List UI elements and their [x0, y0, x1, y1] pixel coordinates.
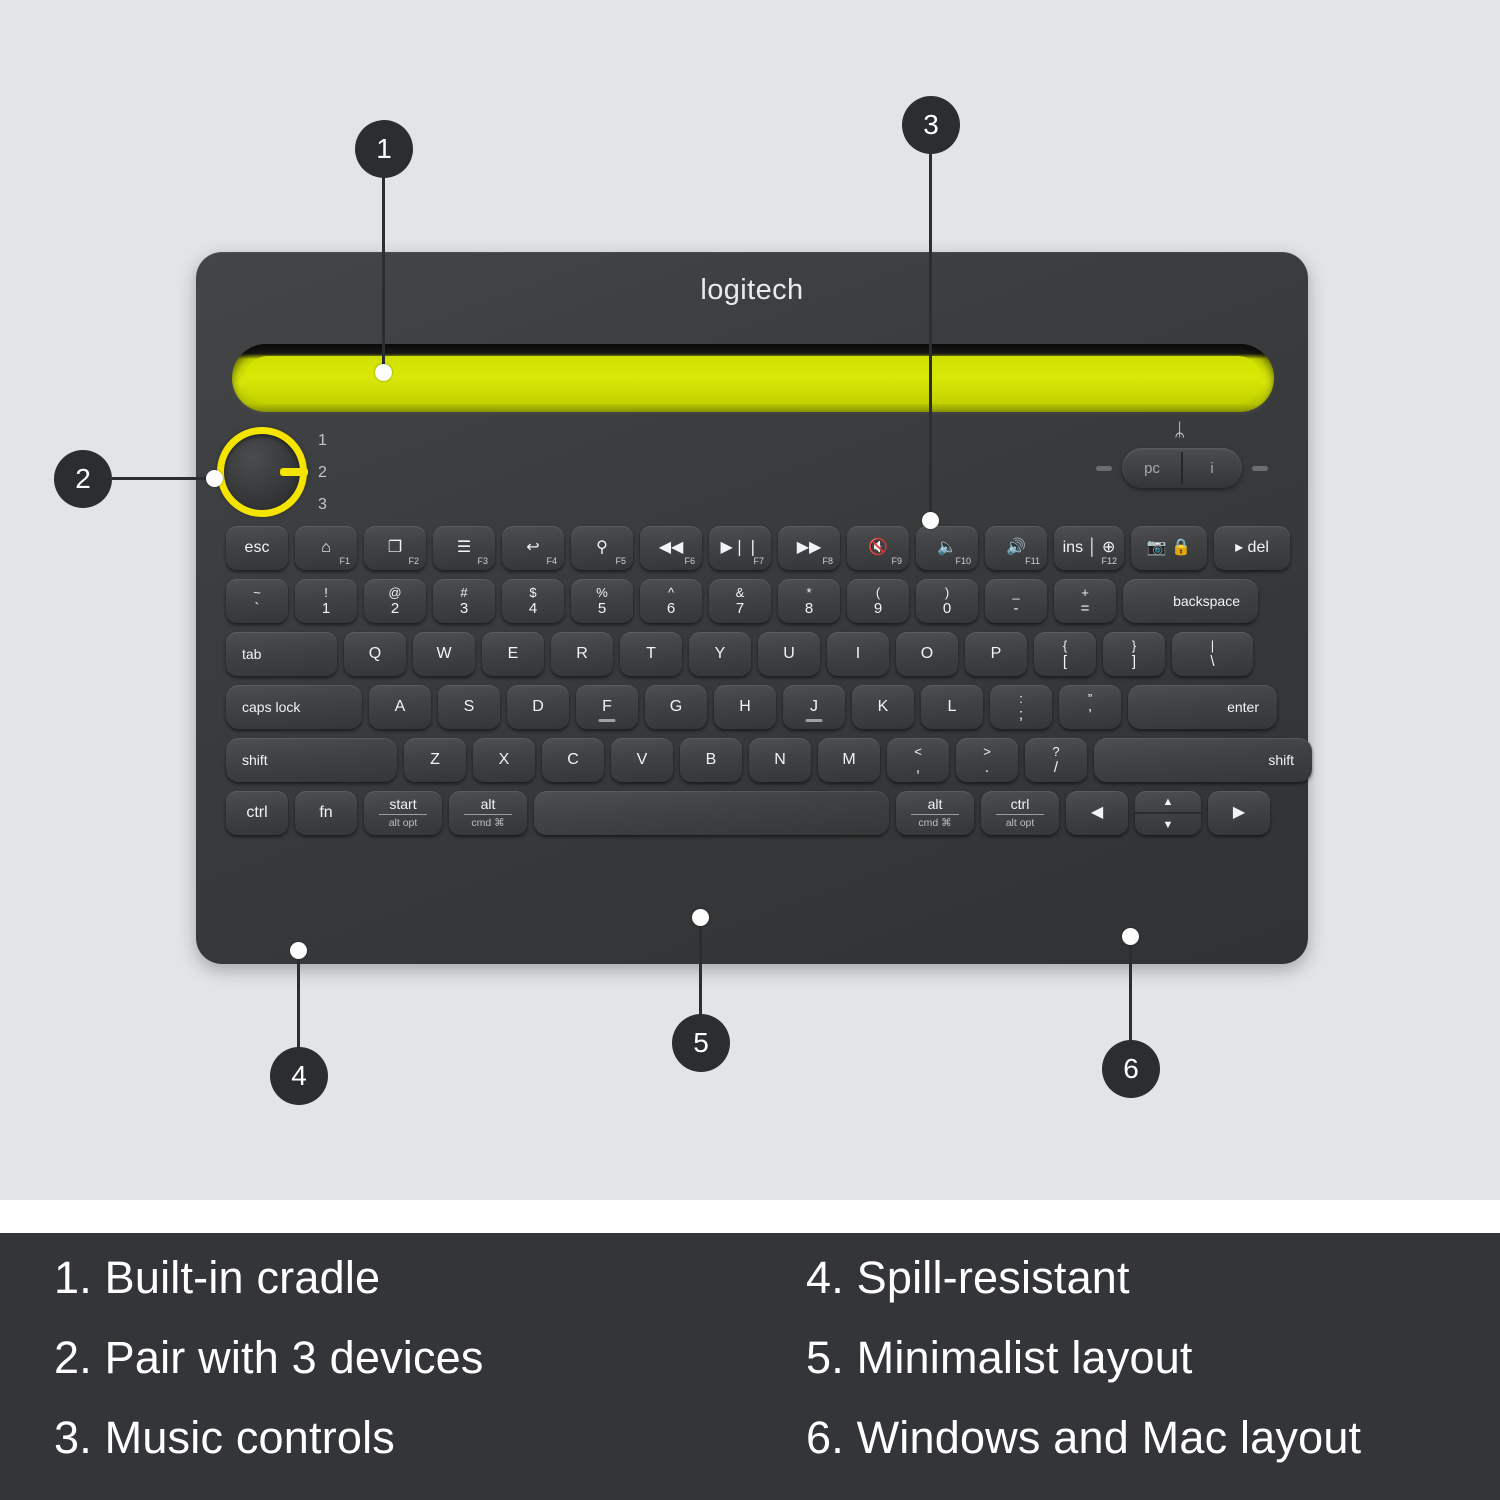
key-legend-shifted: }	[1132, 639, 1136, 652]
arrow-right-icon: ▶	[1233, 805, 1245, 821]
windows-switch-icon-icon: ❐	[388, 540, 402, 556]
key-label: D	[532, 699, 544, 715]
key-legend-rule	[911, 814, 959, 815]
key-label: R	[576, 646, 588, 662]
fast-forward-icon-icon: ▶▶	[797, 540, 822, 556]
key-volume-down[interactable]: 🔈F10	[916, 526, 978, 570]
key-y[interactable]: Y	[689, 632, 751, 676]
callout-dot-6	[1122, 928, 1139, 945]
key-legend-base: -	[1014, 601, 1019, 616]
key-legend-base: [	[1063, 654, 1067, 669]
key-legend-base: 7	[736, 601, 744, 616]
key-arrow-right[interactable]: ▶	[1208, 791, 1270, 835]
caption-item: 2. Pair with 3 devices	[54, 1335, 484, 1380]
search-icon-icon: ⚲	[596, 540, 608, 556]
key-k[interactable]: K	[852, 685, 914, 729]
key-shift-right[interactable]: shift	[1094, 738, 1312, 782]
key-fn-label: F7	[753, 556, 764, 566]
key-label: H	[739, 699, 751, 715]
key-screenshot[interactable]: 📷 🔒	[1131, 526, 1207, 570]
key-volume-up[interactable]: 🔊F11	[985, 526, 1047, 570]
key-legend-rule	[379, 814, 427, 815]
key-label: caps lock	[242, 700, 300, 714]
key-legend-primary: ctrl	[1011, 797, 1030, 811]
dial-label-3: 3	[318, 496, 327, 514]
key-legend-shifted: ^	[668, 586, 674, 599]
key-u[interactable]: U	[758, 632, 820, 676]
key-label: I	[856, 646, 860, 662]
key-insert[interactable]: ins │ ⊕F12	[1054, 526, 1124, 570]
key-search[interactable]: ⚲F5	[571, 526, 633, 570]
callout-dot-5	[692, 909, 709, 926]
key-legend-base: 1	[322, 601, 330, 616]
callout-dot-2	[206, 470, 223, 487]
key-label: ctrl	[246, 805, 267, 821]
key-label: V	[637, 752, 648, 768]
key-quote[interactable]: ”’	[1059, 685, 1121, 729]
callout-badge-4[interactable]: 4	[270, 1047, 328, 1105]
bluetooth-icon: ᛦ	[1174, 420, 1185, 442]
homing-bar	[599, 719, 616, 722]
key-4[interactable]: $4	[502, 579, 564, 623]
key-legend-rule	[996, 814, 1044, 815]
key-tilde[interactable]: ~`	[226, 579, 288, 623]
key-0[interactable]: )0	[916, 579, 978, 623]
key-fast-forward[interactable]: ▶▶F8	[778, 526, 840, 570]
key-row-bottom: ctrlfnstartalt optaltcmd ⌘altcmd ⌘ctrlal…	[226, 791, 1277, 835]
key-legend-base: ,	[916, 760, 920, 775]
key-legend-shifted: (	[876, 586, 880, 599]
key-legend-base: 8	[805, 601, 813, 616]
key-label: G	[670, 699, 682, 715]
key-label: fn	[319, 805, 332, 821]
key-label: esc	[245, 540, 270, 556]
key-legend-shifted: |	[1211, 639, 1214, 652]
key-label: W	[436, 646, 451, 662]
key-arrow-left[interactable]: ◀	[1066, 791, 1128, 835]
key-6[interactable]: ^6	[640, 579, 702, 623]
key-fn-label: F11	[1025, 556, 1040, 566]
key-7[interactable]: &7	[709, 579, 771, 623]
key-x[interactable]: X	[473, 738, 535, 782]
key-equals[interactable]: +=	[1054, 579, 1116, 623]
key-fn-label: F12	[1101, 556, 1117, 566]
key-w[interactable]: W	[413, 632, 475, 676]
key-caps-lock[interactable]: caps lock	[226, 685, 362, 729]
key-j[interactable]: J	[783, 685, 845, 729]
key-legend-shifted: ?	[1052, 745, 1059, 758]
key-label: Y	[715, 646, 726, 662]
back-arrow-icon-icon: ↩	[526, 540, 539, 556]
key-legend-base: 4	[529, 601, 537, 616]
key-legend-rule	[464, 814, 512, 815]
key-menu[interactable]: ☰F3	[433, 526, 495, 570]
key-label: A	[395, 699, 406, 715]
key-app-switch[interactable]: ❐F2	[364, 526, 426, 570]
callout-dot-3	[922, 512, 939, 529]
callout-badge-2[interactable]: 2	[54, 450, 112, 508]
key-mute[interactable]: 🔇F9	[847, 526, 909, 570]
key-shift-left[interactable]: shift	[226, 738, 397, 782]
key-label: Z	[430, 752, 440, 768]
key-legend-primary: alt	[928, 797, 943, 811]
key-row-home: caps lockASDFGHJKL:;”’enter	[226, 685, 1284, 729]
callout-badge-3[interactable]: 3	[902, 96, 960, 154]
key-legend-shifted: +	[1081, 586, 1089, 599]
key-semicolon[interactable]: :;	[990, 685, 1052, 729]
key-legend-base: 2	[391, 601, 399, 616]
key-legend-secondary: cmd ⌘	[918, 818, 951, 829]
caption-item: 5. Minimalist layout	[806, 1335, 1361, 1380]
switch-option-pc[interactable]: pc	[1122, 448, 1182, 488]
key-legend-base: 0	[943, 601, 951, 616]
key-label: enter	[1227, 700, 1259, 714]
caption-column-left: 1. Built-in cradle 2. Pair with 3 device…	[54, 1255, 484, 1495]
key-e[interactable]: E	[482, 632, 544, 676]
homing-bar	[806, 719, 823, 722]
key-fn-label: F3	[477, 556, 488, 566]
key-i[interactable]: I	[827, 632, 889, 676]
key-1[interactable]: !1	[295, 579, 357, 623]
key-legend-base: 5	[598, 601, 606, 616]
key-t[interactable]: T	[620, 632, 682, 676]
key-delete[interactable]: ▸ del	[1214, 526, 1290, 570]
key-fn-label: F10	[955, 556, 971, 566]
key-2[interactable]: @2	[364, 579, 426, 623]
key-legend-shifted: $	[529, 586, 536, 599]
key-legend-base: 9	[874, 601, 882, 616]
key-play-pause[interactable]: ▶❘❘F7	[709, 526, 771, 570]
key-label: O	[921, 646, 933, 662]
key-legend-shifted: &	[736, 586, 745, 599]
callout-dot-1	[375, 364, 392, 381]
key-label: ▸ del	[1235, 540, 1269, 556]
key-legend-shifted: *	[806, 586, 811, 599]
key-m[interactable]: M	[818, 738, 880, 782]
key-rewind[interactable]: ◀◀F6	[640, 526, 702, 570]
key-legend-primary: start	[389, 797, 416, 811]
key-fn-label: F8	[822, 556, 833, 566]
key-h[interactable]: H	[714, 685, 776, 729]
key-ctrl-right[interactable]: ctrlalt opt	[981, 791, 1059, 835]
key-legend-base: `	[255, 601, 260, 616]
key-label: T	[646, 646, 656, 662]
key-legend-shifted: {	[1063, 639, 1067, 652]
switch-dash-left	[1096, 466, 1112, 471]
key-label: B	[706, 752, 717, 768]
key-legend-base: 3	[460, 601, 468, 616]
key-fn[interactable]: fn	[295, 791, 357, 835]
key-legend-base: 6	[667, 601, 675, 616]
feature-caption-panel: 1. Built-in cradle 2. Pair with 3 device…	[0, 1233, 1500, 1500]
callout-leader-4	[297, 955, 300, 1049]
key-legend-secondary: alt opt	[389, 818, 418, 829]
key-fn-label: F4	[546, 556, 557, 566]
key-label: C	[567, 752, 579, 768]
key-l[interactable]: L	[921, 685, 983, 729]
arrow-left-icon: ◀	[1091, 805, 1103, 821]
key-s[interactable]: S	[438, 685, 500, 729]
arrow-down-icon[interactable]: ▼	[1135, 814, 1201, 835]
callout-leader-3	[929, 154, 932, 520]
key-legend-shifted: %	[596, 586, 608, 599]
key-slash[interactable]: ?/	[1025, 738, 1087, 782]
key-back[interactable]: ↩F4	[502, 526, 564, 570]
key-start[interactable]: startalt opt	[364, 791, 442, 835]
key-8[interactable]: *8	[778, 579, 840, 623]
caption-item: 1. Built-in cradle	[54, 1255, 484, 1300]
key-backspace[interactable]: backspace	[1123, 579, 1258, 623]
key-legend-base: ]	[1132, 654, 1136, 669]
key-bracket-right[interactable]: }]	[1103, 632, 1165, 676]
key-legend-shifted: @	[388, 586, 401, 599]
key-label: Q	[369, 646, 381, 662]
callout-leader-1	[382, 178, 385, 372]
key-n[interactable]: N	[749, 738, 811, 782]
key-legend-base: =	[1081, 601, 1090, 616]
key-label: J	[810, 699, 818, 715]
key-a[interactable]: A	[369, 685, 431, 729]
key-9[interactable]: (9	[847, 579, 909, 623]
key-label: U	[783, 646, 795, 662]
key-legend-secondary: alt opt	[1006, 818, 1035, 829]
menu-icon-icon: ☰	[457, 540, 471, 556]
dial-label-2: 2	[318, 464, 327, 482]
key-legend-shifted: ~	[253, 586, 261, 599]
key-label: S	[464, 699, 475, 715]
key-label: M	[842, 752, 855, 768]
rewind-icon-icon: ◀◀	[659, 540, 684, 556]
key-g[interactable]: G	[645, 685, 707, 729]
caption-item: 4. Spill-resistant	[806, 1255, 1361, 1300]
key-label: L	[948, 699, 957, 715]
key-legend-shifted: !	[324, 586, 328, 599]
key-label: shift	[1268, 753, 1294, 767]
play-pause-icon-icon: ▶❘❘	[720, 540, 759, 556]
key-3[interactable]: #3	[433, 579, 495, 623]
key-row-qwerty: tabQWERTYUIOP{[}]|\	[226, 632, 1260, 676]
callout-leader-6	[1129, 940, 1132, 1042]
key-p[interactable]: P	[965, 632, 1027, 676]
key-period[interactable]: >.	[956, 738, 1018, 782]
key-q[interactable]: Q	[344, 632, 406, 676]
key-label: X	[499, 752, 510, 768]
key-row-number: ~`!1@2#3$4%5^6&7*8(9)0_-+=backspace	[226, 579, 1265, 623]
key-o[interactable]: O	[896, 632, 958, 676]
key-label: tab	[242, 647, 261, 661]
key-fn-label: F9	[891, 556, 902, 566]
key-tab[interactable]: tab	[226, 632, 337, 676]
cradle-slot	[244, 356, 1262, 404]
caption-item: 6. Windows and Mac layout	[806, 1415, 1361, 1460]
switch-divider	[1181, 452, 1183, 484]
key-bracket-left[interactable]: {[	[1034, 632, 1096, 676]
key-legend-secondary: cmd ⌘	[471, 818, 504, 829]
key-legend-base: \	[1210, 654, 1214, 669]
callout-badge-5[interactable]: 5	[672, 1014, 730, 1072]
key-alt-left[interactable]: altcmd ⌘	[449, 791, 527, 835]
device-dial-pointer	[280, 468, 308, 476]
key-legend-shifted: ”	[1088, 692, 1092, 705]
key-label: E	[508, 646, 519, 662]
key-legend-base: .	[985, 760, 989, 775]
key-legend-base: /	[1054, 760, 1058, 775]
key-row-function: esc⌂F1❐F2☰F3↩F4⚲F5◀◀F6▶❘❘F7▶▶F8🔇F9🔈F10🔊F…	[226, 526, 1297, 570]
screenshot-lock-icon-icon: 📷 🔒	[1147, 540, 1191, 556]
switch-option-i[interactable]: i	[1182, 448, 1242, 488]
volume-down-icon-icon: 🔈	[937, 540, 957, 556]
key-enter[interactable]: enter	[1128, 685, 1277, 729]
switch-dash-right	[1252, 466, 1268, 471]
key-legend-shifted: _	[1012, 586, 1019, 599]
key-arrow-updown[interactable]: ▲▼	[1135, 791, 1201, 835]
key-legend-shifted: <	[914, 745, 922, 758]
callout-badge-6[interactable]: 6	[1102, 1040, 1160, 1098]
key-legend-shifted: )	[945, 586, 949, 599]
key-minus[interactable]: _-	[985, 579, 1047, 623]
key-legend-shifted: >	[983, 745, 991, 758]
key-home[interactable]: ⌂F1	[295, 526, 357, 570]
keyboard-body: logitech 1 2 3 ᛦ pc i esc⌂F1❐F2☰F3↩F4⚲F5…	[196, 252, 1308, 964]
key-legend-base: ;	[1019, 707, 1023, 722]
key-comma[interactable]: <,	[887, 738, 949, 782]
home-icon-icon: ⌂	[321, 540, 331, 556]
key-label: P	[991, 646, 1002, 662]
key-esc[interactable]: esc	[226, 526, 288, 570]
arrow-up-icon[interactable]: ▲	[1135, 791, 1201, 812]
key-backslash[interactable]: |\	[1172, 632, 1253, 676]
key-v[interactable]: V	[611, 738, 673, 782]
key-b[interactable]: B	[680, 738, 742, 782]
key-alt-right[interactable]: altcmd ⌘	[896, 791, 974, 835]
key-label: shift	[242, 753, 268, 767]
key-legend-shifted: #	[460, 586, 467, 599]
key-fn-label: F2	[408, 556, 419, 566]
key-d[interactable]: D	[507, 685, 569, 729]
key-label: backspace	[1173, 594, 1240, 608]
key-label: ins │ ⊕	[1063, 540, 1116, 556]
volume-up-icon-icon: 🔊	[1006, 540, 1026, 556]
callout-dot-4	[290, 942, 307, 959]
key-label: F	[602, 699, 612, 715]
caption-item: 3. Music controls	[54, 1415, 484, 1460]
key-ctrl-left[interactable]: ctrl	[226, 791, 288, 835]
key-row-shift: shiftZXCVBNM<,>.?/shift	[226, 738, 1319, 782]
key-z[interactable]: Z	[404, 738, 466, 782]
key-space[interactable]	[534, 791, 889, 835]
key-c[interactable]: C	[542, 738, 604, 782]
key-r[interactable]: R	[551, 632, 613, 676]
pc-device-switch-group: ᛦ pc i	[1122, 448, 1242, 488]
callout-leader-5	[699, 922, 702, 1016]
key-legend-shifted: :	[1019, 692, 1023, 705]
key-fn-label: F1	[339, 556, 350, 566]
dial-label-1: 1	[318, 432, 327, 450]
logitech-logo: logitech	[196, 274, 1308, 307]
key-label: K	[878, 699, 889, 715]
caption-column-right: 4. Spill-resistant 5. Minimalist layout …	[806, 1255, 1361, 1495]
key-label: N	[774, 752, 786, 768]
callout-badge-1[interactable]: 1	[355, 120, 413, 178]
key-fn-label: F6	[684, 556, 695, 566]
mute-icon-icon: 🔇	[868, 540, 888, 556]
key-5[interactable]: %5	[571, 579, 633, 623]
key-f[interactable]: F	[576, 685, 638, 729]
key-legend-base: ’	[1088, 707, 1091, 722]
key-legend-primary: alt	[481, 797, 496, 811]
white-divider	[0, 1200, 1500, 1233]
product-photo: logitech 1 2 3 ᛦ pc i esc⌂F1❐F2☰F3↩F4⚲F5…	[0, 0, 1500, 1200]
key-fn-label: F5	[615, 556, 626, 566]
